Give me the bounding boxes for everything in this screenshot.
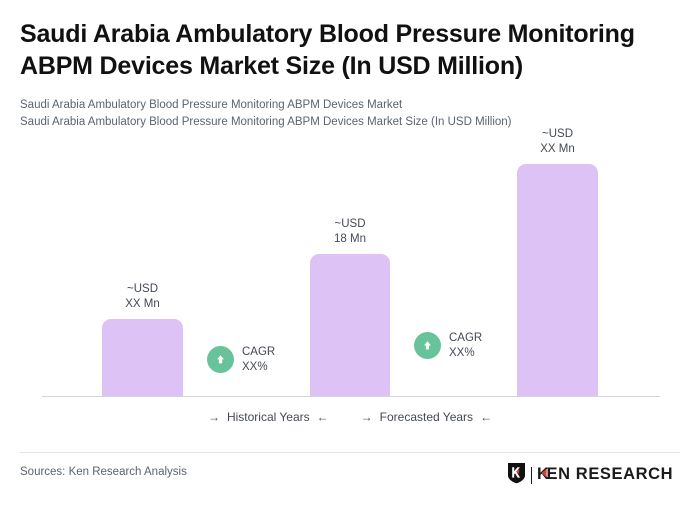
- bar-value-label-line1: ~USD: [310, 217, 390, 232]
- bar-value-label-line1: ~USD: [517, 127, 598, 142]
- bar-value-label-line2: 18 Mn: [310, 232, 390, 247]
- legend-item-forecasted-years: → Forecasted Years ←: [361, 410, 492, 424]
- arrow-left-icon: ←: [480, 411, 492, 423]
- cagr-badge-forecast: CAGR XX%: [414, 331, 482, 360]
- cagr-value: XX%: [242, 360, 275, 375]
- legend-item-historical-years: → Historical Years ←: [208, 410, 329, 424]
- chart-page: Saudi Arabia Ambulatory Blood Pressure M…: [0, 0, 700, 520]
- bar-historical[interactable]: [102, 319, 183, 396]
- bar-value-label-line2: XX Mn: [102, 297, 183, 312]
- axis-baseline: [42, 396, 660, 397]
- arrow-up-icon: [207, 346, 234, 373]
- cagr-text: CAGR XX%: [242, 345, 275, 374]
- ken-research-wordmark: K EN RESEARCH: [537, 464, 680, 488]
- period-legend: → Historical Years ← → Forecasted Years …: [0, 410, 700, 424]
- footer-divider: [20, 452, 680, 453]
- bar-value-label-line1: ~USD: [102, 282, 183, 297]
- cagr-text: CAGR XX%: [449, 331, 482, 360]
- cagr-badge-historical: CAGR XX%: [207, 345, 275, 374]
- arrow-right-icon: →: [208, 411, 220, 423]
- bar-forecast[interactable]: [517, 164, 598, 396]
- brand-logo: K EN RESEARCH: [507, 462, 681, 489]
- bar-value-label: ~USD XX Mn: [517, 127, 598, 156]
- sources-text: Sources: Ken Research Analysis: [20, 466, 187, 478]
- page-title: Saudi Arabia Ambulatory Blood Pressure M…: [20, 18, 680, 82]
- cagr-label: CAGR: [449, 331, 482, 346]
- subtitle-line-1: Saudi Arabia Ambulatory Blood Pressure M…: [20, 97, 680, 114]
- arrow-right-icon: →: [361, 411, 373, 423]
- cagr-label: CAGR: [242, 345, 275, 360]
- bar-value-label: ~USD XX Mn: [102, 282, 183, 311]
- bar-value-label-line2: XX Mn: [517, 142, 598, 157]
- svg-text:EN RESEARCH: EN RESEARCH: [547, 465, 674, 483]
- arrow-up-icon: [414, 332, 441, 359]
- ken-research-shield-icon: [507, 462, 526, 489]
- legend-label-forecasted-years: Forecasted Years: [380, 410, 473, 424]
- legend-label-historical-years: Historical Years: [227, 410, 310, 424]
- arrow-left-icon: ←: [317, 411, 329, 423]
- bar-base[interactable]: [310, 254, 390, 396]
- bar-chart: ~USD XX Mn ~USD 18 Mn ~USD XX Mn: [0, 125, 700, 400]
- cagr-value: XX%: [449, 346, 482, 361]
- brand-divider: [531, 467, 533, 484]
- bar-value-label: ~USD 18 Mn: [310, 217, 390, 246]
- plot-area: ~USD XX Mn ~USD 18 Mn ~USD XX Mn: [0, 125, 700, 396]
